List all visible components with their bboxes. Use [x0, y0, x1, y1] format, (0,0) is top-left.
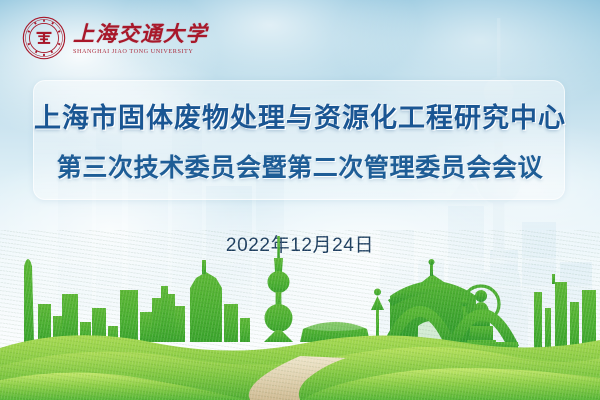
sjtu-name-cn: 上海交通大学 [73, 23, 208, 45]
sjtu-seal-emblem-icon [22, 16, 66, 60]
green-scenery [0, 230, 600, 400]
page-subtitle: 第三次技术委员会暨第二次管理委员会会议 [0, 148, 600, 184]
skyline-silhouette [24, 236, 384, 342]
oriental-pearl-tower-icon [264, 236, 293, 342]
factory-stacks-icon [534, 274, 596, 350]
sjtu-name-en: SHANGHAI JIAO TONG UNIVERSITY [73, 48, 208, 55]
conference-banner: 上海交通大学 SHANGHAI JIAO TONG UNIVERSITY 上海市… [0, 0, 600, 400]
sjtu-logo-lockup: 上海交通大学 SHANGHAI JIAO TONG UNIVERSITY [22, 16, 208, 60]
page-title: 上海市固体废物处理与资源化工程研究中心 [0, 96, 600, 135]
sjtu-wordmark: 上海交通大学 SHANGHAI JIAO TONG UNIVERSITY [73, 21, 208, 55]
